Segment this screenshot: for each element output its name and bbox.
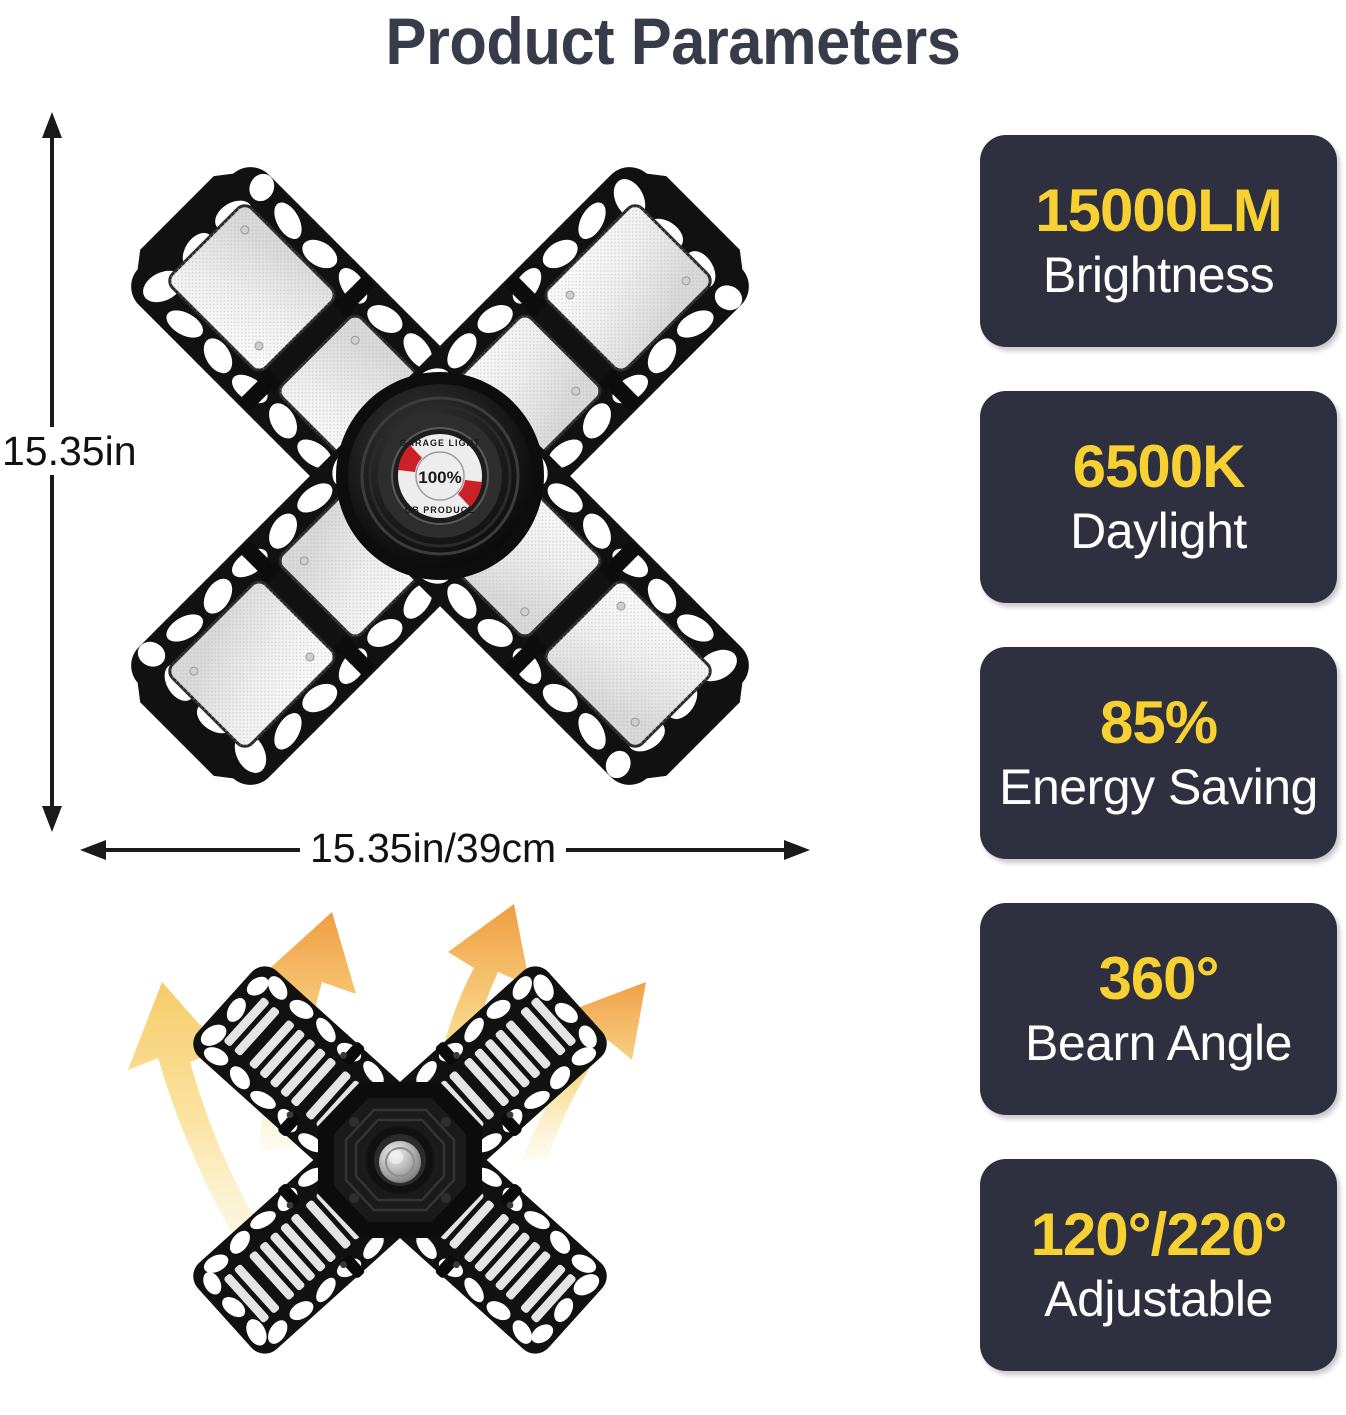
lamp-hub-back	[318, 1082, 482, 1238]
parameter-card-beam-angle[interactable]: 360° Bearn Angle	[980, 903, 1337, 1115]
parameter-value: 360°	[1098, 945, 1218, 1013]
page-title: Product Parameters	[47, 2, 1299, 80]
parameter-label: Brightness	[1043, 245, 1274, 305]
svg-text:100%: 100%	[418, 468, 461, 487]
parameter-card-adjustable[interactable]: 120°/220° Adjustable	[980, 1159, 1337, 1371]
dimension-label-width: 15.35in/39cm	[300, 820, 566, 876]
lamp-hub-front: 100% GARAGE LIGHT CB PRODUCE	[336, 372, 544, 580]
product-image-back-view	[70, 890, 730, 1400]
hub-brand-label: 100% GARAGE LIGHT CB PRODUCE	[392, 428, 488, 524]
parameter-label: Bearn Angle	[1025, 1013, 1292, 1073]
parameter-card-energy-saving[interactable]: 85% Energy Saving	[980, 647, 1337, 859]
parameter-value: 120°/220°	[1031, 1201, 1287, 1269]
parameter-label: Adjustable	[1044, 1269, 1273, 1329]
parameter-label: Energy Saving	[999, 757, 1318, 817]
parameter-value: 15000LM	[1035, 177, 1281, 245]
parameter-card-color-temperature[interactable]: 6500K Daylight	[980, 391, 1337, 603]
parameter-label: Daylight	[1070, 501, 1247, 561]
parameter-value: 6500K	[1073, 433, 1245, 501]
dimension-label-height: 15.35in	[0, 427, 182, 475]
svg-text:GARAGE LIGHT: GARAGE LIGHT	[400, 438, 481, 448]
parameter-card-list: 15000LM Brightness 6500K Daylight 85% En…	[980, 135, 1337, 1415]
product-image-front-view: 100% GARAGE LIGHT CB PRODUCE	[0, 96, 880, 896]
parameter-card-brightness[interactable]: 15000LM Brightness	[980, 135, 1337, 347]
lamp-front-svg: 100% GARAGE LIGHT CB PRODUCE	[0, 96, 880, 896]
lamp-back-svg	[70, 890, 730, 1400]
svg-text:CB PRODUCE: CB PRODUCE	[405, 505, 476, 515]
parameter-value: 85%	[1100, 689, 1217, 757]
